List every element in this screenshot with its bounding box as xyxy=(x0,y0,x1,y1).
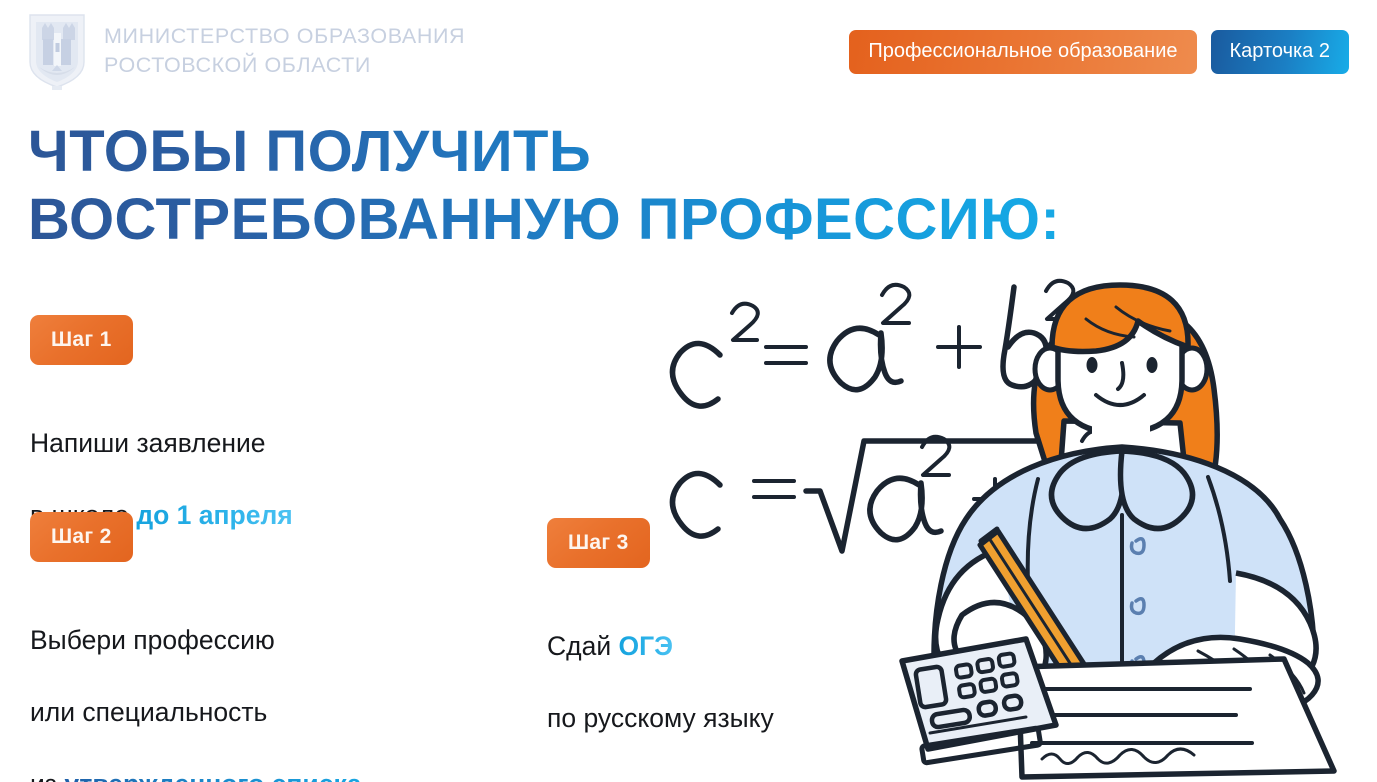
calculator xyxy=(902,639,1056,763)
step-2-line2: или специальность xyxy=(30,697,267,727)
step-2-line3-prefix: из xyxy=(30,769,64,782)
page-title: ЧТОБЫ ПОЛУЧИТЬ ВОСТРЕБОВАННУЮ ПРОФЕССИЮ: xyxy=(28,118,1158,254)
poster-header: МИНИСТЕРСТВО ОБРАЗОВАНИЯ РОСТОВСКОЙ ОБЛА… xyxy=(0,0,1377,100)
ministry-brand: МИНИСТЕРСТВО ОБРАЗОВАНИЯ РОСТОВСКОЙ ОБЛА… xyxy=(26,12,465,90)
illustration-girl-writing: .ink { fill:none; stroke:#1b2430; stroke… xyxy=(640,275,1377,782)
rostov-region-coat-of-arms-icon xyxy=(26,12,88,90)
ministry-name: МИНИСТЕРСТВО ОБРАЗОВАНИЯ РОСТОВСКОЙ ОБЛА… xyxy=(104,22,465,79)
eye-left xyxy=(1087,357,1098,373)
step-3-badge: Шаг 3 xyxy=(547,518,650,568)
step-2-line1: Выбери профессию xyxy=(30,625,275,655)
step-2-badge: Шаг 2 xyxy=(30,512,133,562)
paper-sheet xyxy=(1018,659,1334,777)
header-badge-group: Профессиональное образование Карточка 2 xyxy=(849,30,1349,74)
badge-card-number[interactable]: Карточка 2 xyxy=(1211,30,1350,74)
eye-right xyxy=(1147,357,1158,373)
step-2: Шаг 2 Выбери профессию или специальность… xyxy=(30,512,361,782)
hair-fringe xyxy=(1052,285,1188,352)
step-1-badge: Шаг 1 xyxy=(30,315,133,365)
step-2-highlight: утвержденного списка xyxy=(64,769,361,782)
step-1: Шаг 1 Напиши заявление в школе до 1 апре… xyxy=(30,315,293,533)
step-3-line1-prefix: Сдай xyxy=(547,631,619,661)
infographic-poster: МИНИСТЕРСТВО ОБРАЗОВАНИЯ РОСТОВСКОЙ ОБЛА… xyxy=(0,0,1377,782)
step-2-text: Выбери профессию или специальность из ут… xyxy=(30,586,361,782)
step-1-line1: Напиши заявление xyxy=(30,428,266,458)
badge-category[interactable]: Профессиональное образование xyxy=(849,30,1196,74)
